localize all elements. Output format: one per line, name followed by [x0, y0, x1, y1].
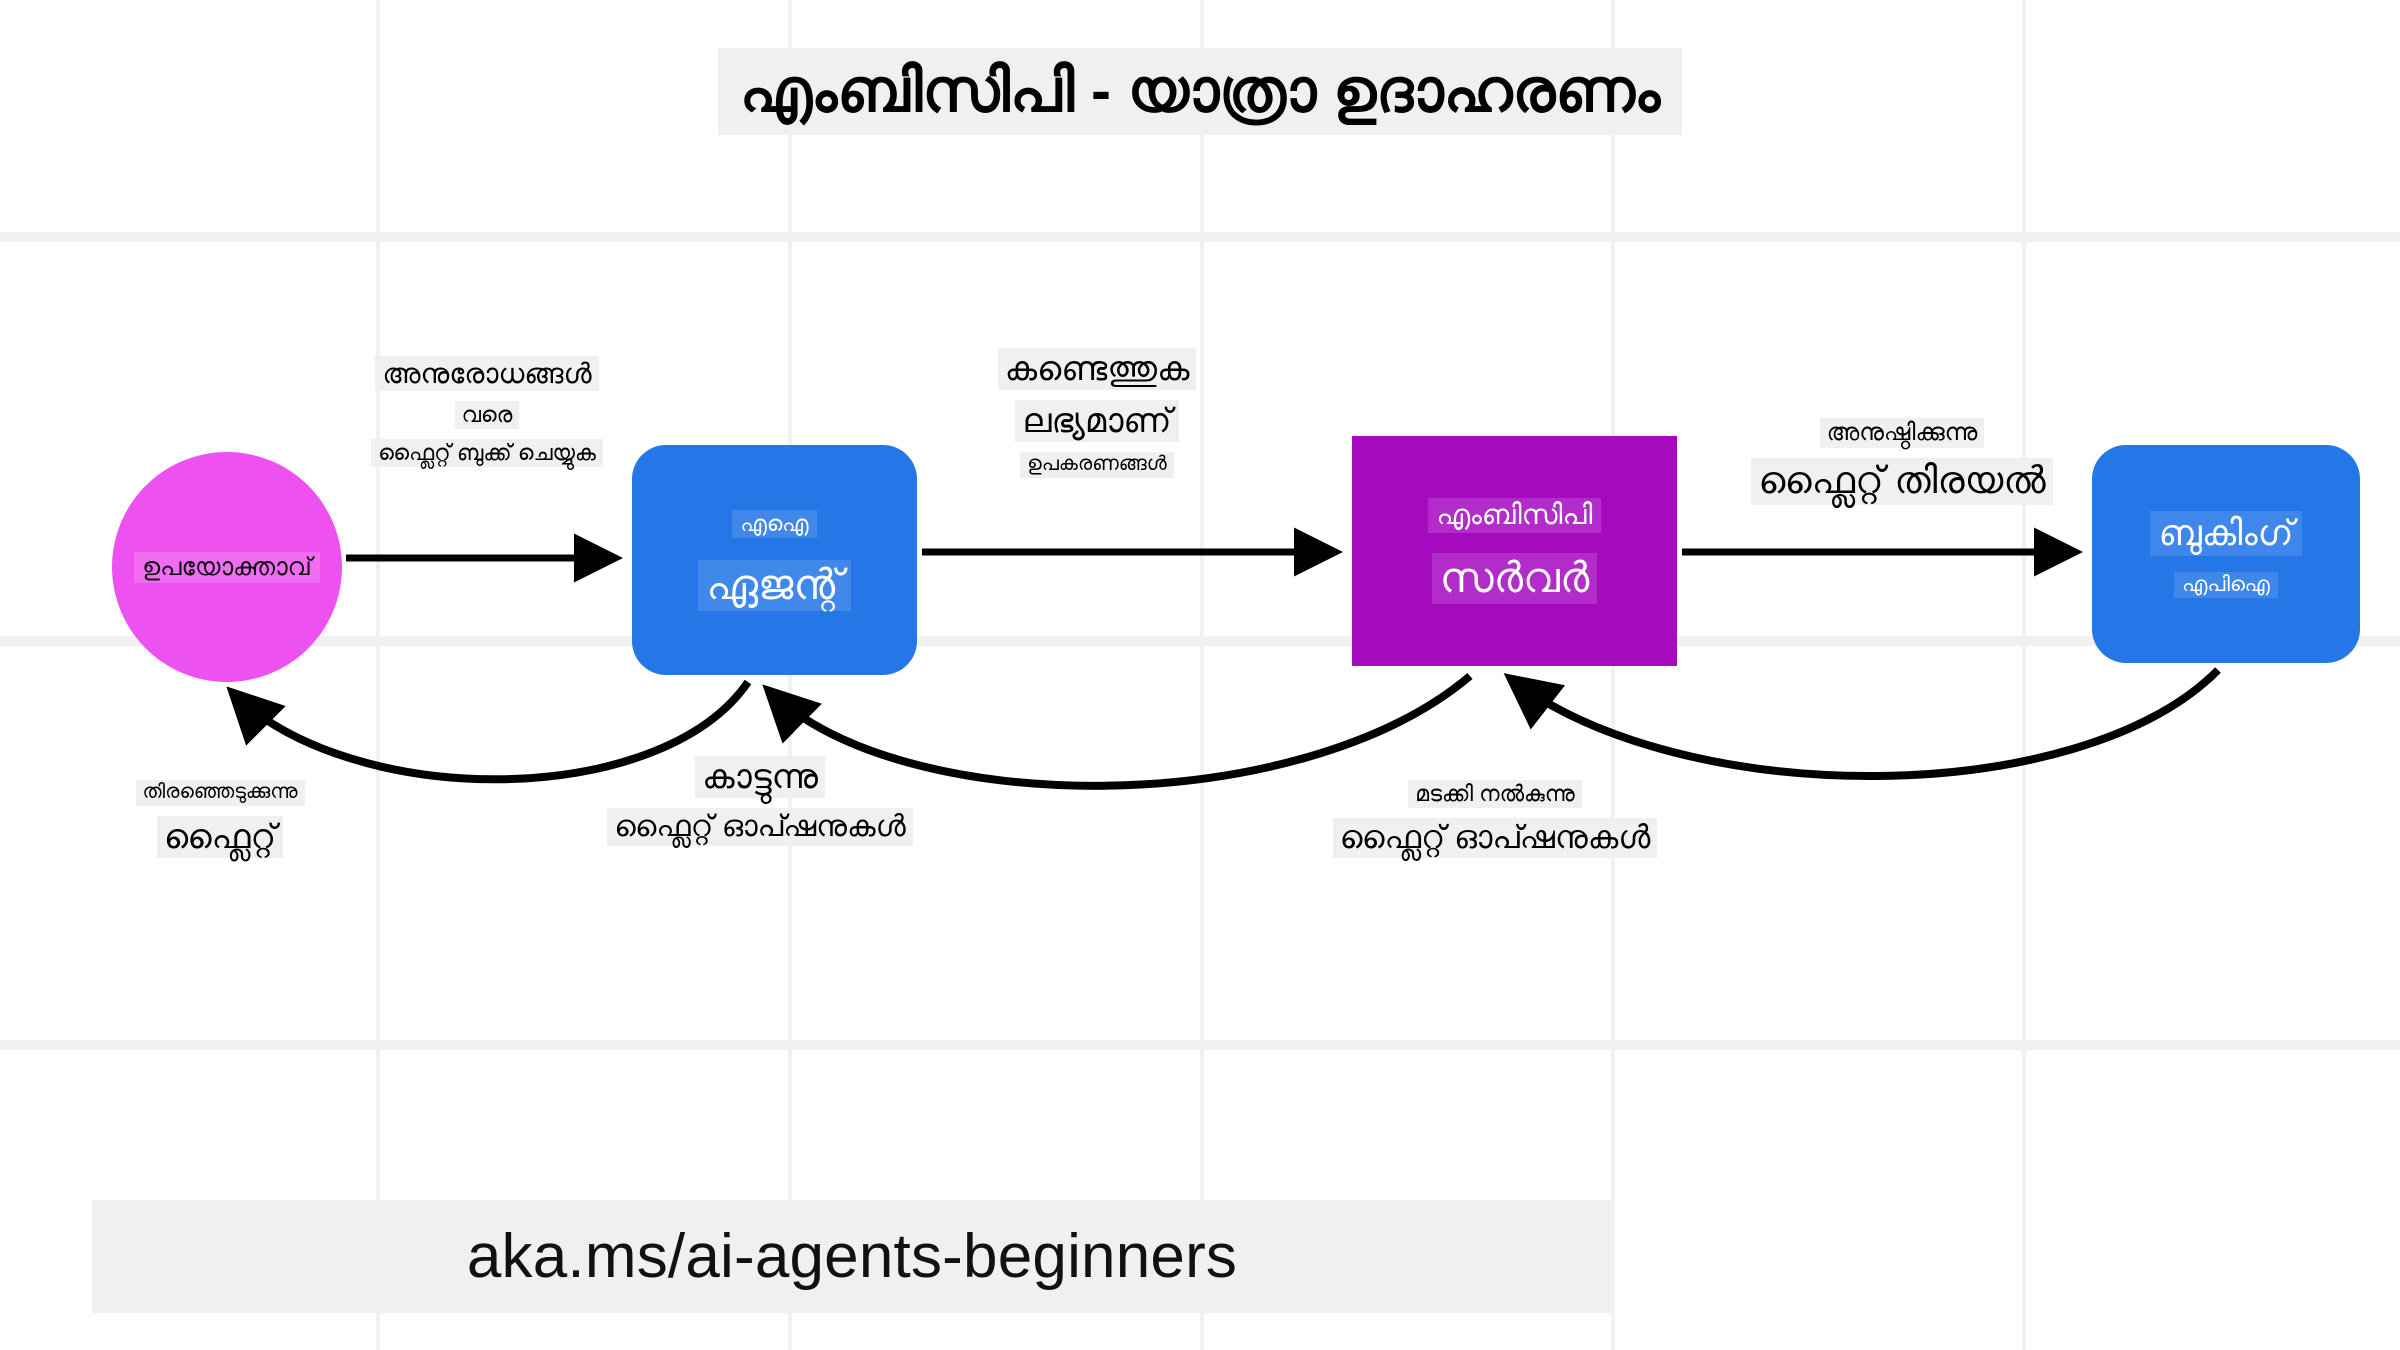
node-ai-agent-label-main: ഏജന്റ്	[698, 560, 850, 611]
edge-label-agent-to-user: തിരഞ്ഞെടുക്കുന്നു ഫ്ലൈറ്റ്	[115, 780, 325, 858]
edge-label-line: ഫ്ലൈറ്റ്	[157, 816, 283, 858]
edge-label-agent-to-mcp: കണ്ടെത്തുക ലഭ്യമാണ് ഉപകരണങ്ങൾ	[962, 348, 1232, 478]
edge-label-line: ഫ്ലൈറ്റ് തിരയൽ	[1751, 458, 2052, 505]
node-mcp-server[interactable]: എംബിസിപി സർവർ	[1352, 436, 1677, 666]
node-ai-agent[interactable]: എഐ ഏജന്റ്	[632, 445, 917, 675]
edge-label-line: ലഭ്യമാണ്	[1015, 400, 1178, 442]
edge-label-mcp-to-booking: അനുഷ്ഠിക്കുന്നു ഫ്ലൈറ്റ് തിരയൽ	[1742, 418, 2062, 505]
diagram-canvas: എംബിസിപി - യാത്രാ ഉദാഹരണം ഉപയോക്താവ് എഐ …	[0, 0, 2400, 1350]
edge-label-line: കണ്ടെത്തുക	[998, 348, 1197, 390]
node-booking-api-label-main: എപിഐ	[2174, 572, 2278, 598]
edge-label-line: ഉപകരണങ്ങൾ	[1020, 452, 1173, 478]
edge-label-line: ഫ്ലൈറ്റ് ഓപ്ഷനുകൾ	[607, 808, 912, 845]
node-user-label: ഉപയോക്താവ്	[134, 552, 320, 583]
edge-label-mcp-to-agent: കാട്ടുന്നു ഫ്ലൈറ്റ് ഓപ്ഷനുകൾ	[600, 756, 920, 846]
footer-url-text: aka.ms/ai-agents-beginners	[467, 1221, 1237, 1292]
edge-label-line: വരെ	[455, 401, 520, 429]
node-booking-api-label-top: ബുകിംഗ്	[2150, 511, 2301, 556]
edge-label-line: അനുരോധങ്ങൾ	[375, 356, 598, 391]
node-booking-api[interactable]: ബുകിംഗ് എപിഐ	[2092, 445, 2360, 663]
edge-label-line: ഫ്ലൈറ്റ് ഓപ്ഷനുകൾ	[1333, 818, 1658, 858]
edge-label-booking-to-mcp: മടക്കി നൽകുന്നു ഫ്ലൈറ്റ് ഓപ്ഷനുകൾ	[1330, 780, 1660, 858]
node-mcp-server-label-main: സർവർ	[1432, 553, 1598, 604]
edge-label-line: തിരഞ്ഞെടുക്കുന്നു	[136, 780, 305, 806]
edge-label-line: കാട്ടുന്നു	[695, 756, 825, 798]
edge-arrows-layer	[0, 0, 2400, 1350]
node-user[interactable]: ഉപയോക്താവ്	[112, 452, 342, 682]
edge-label-line: ഫ്ലൈറ്റ് ബുക്ക് ചെയ്യുക	[371, 439, 603, 467]
node-ai-agent-label-top: എഐ	[732, 510, 816, 538]
node-mcp-server-label-top: എംബിസിപി	[1428, 498, 1600, 533]
edge-label-line: മടക്കി നൽകുന്നു	[1408, 780, 1581, 808]
edge-label-user-to-agent: അനുരോധങ്ങൾ വരെ ഫ്ലൈറ്റ് ബുക്ക് ചെയ്യുക	[352, 356, 622, 467]
footer-url-banner[interactable]: aka.ms/ai-agents-beginners	[92, 1200, 1612, 1313]
arrow-booking-to-mcp	[1510, 670, 2218, 776]
edge-label-line: അനുഷ്ഠിക്കുന്നു	[1820, 418, 1985, 448]
